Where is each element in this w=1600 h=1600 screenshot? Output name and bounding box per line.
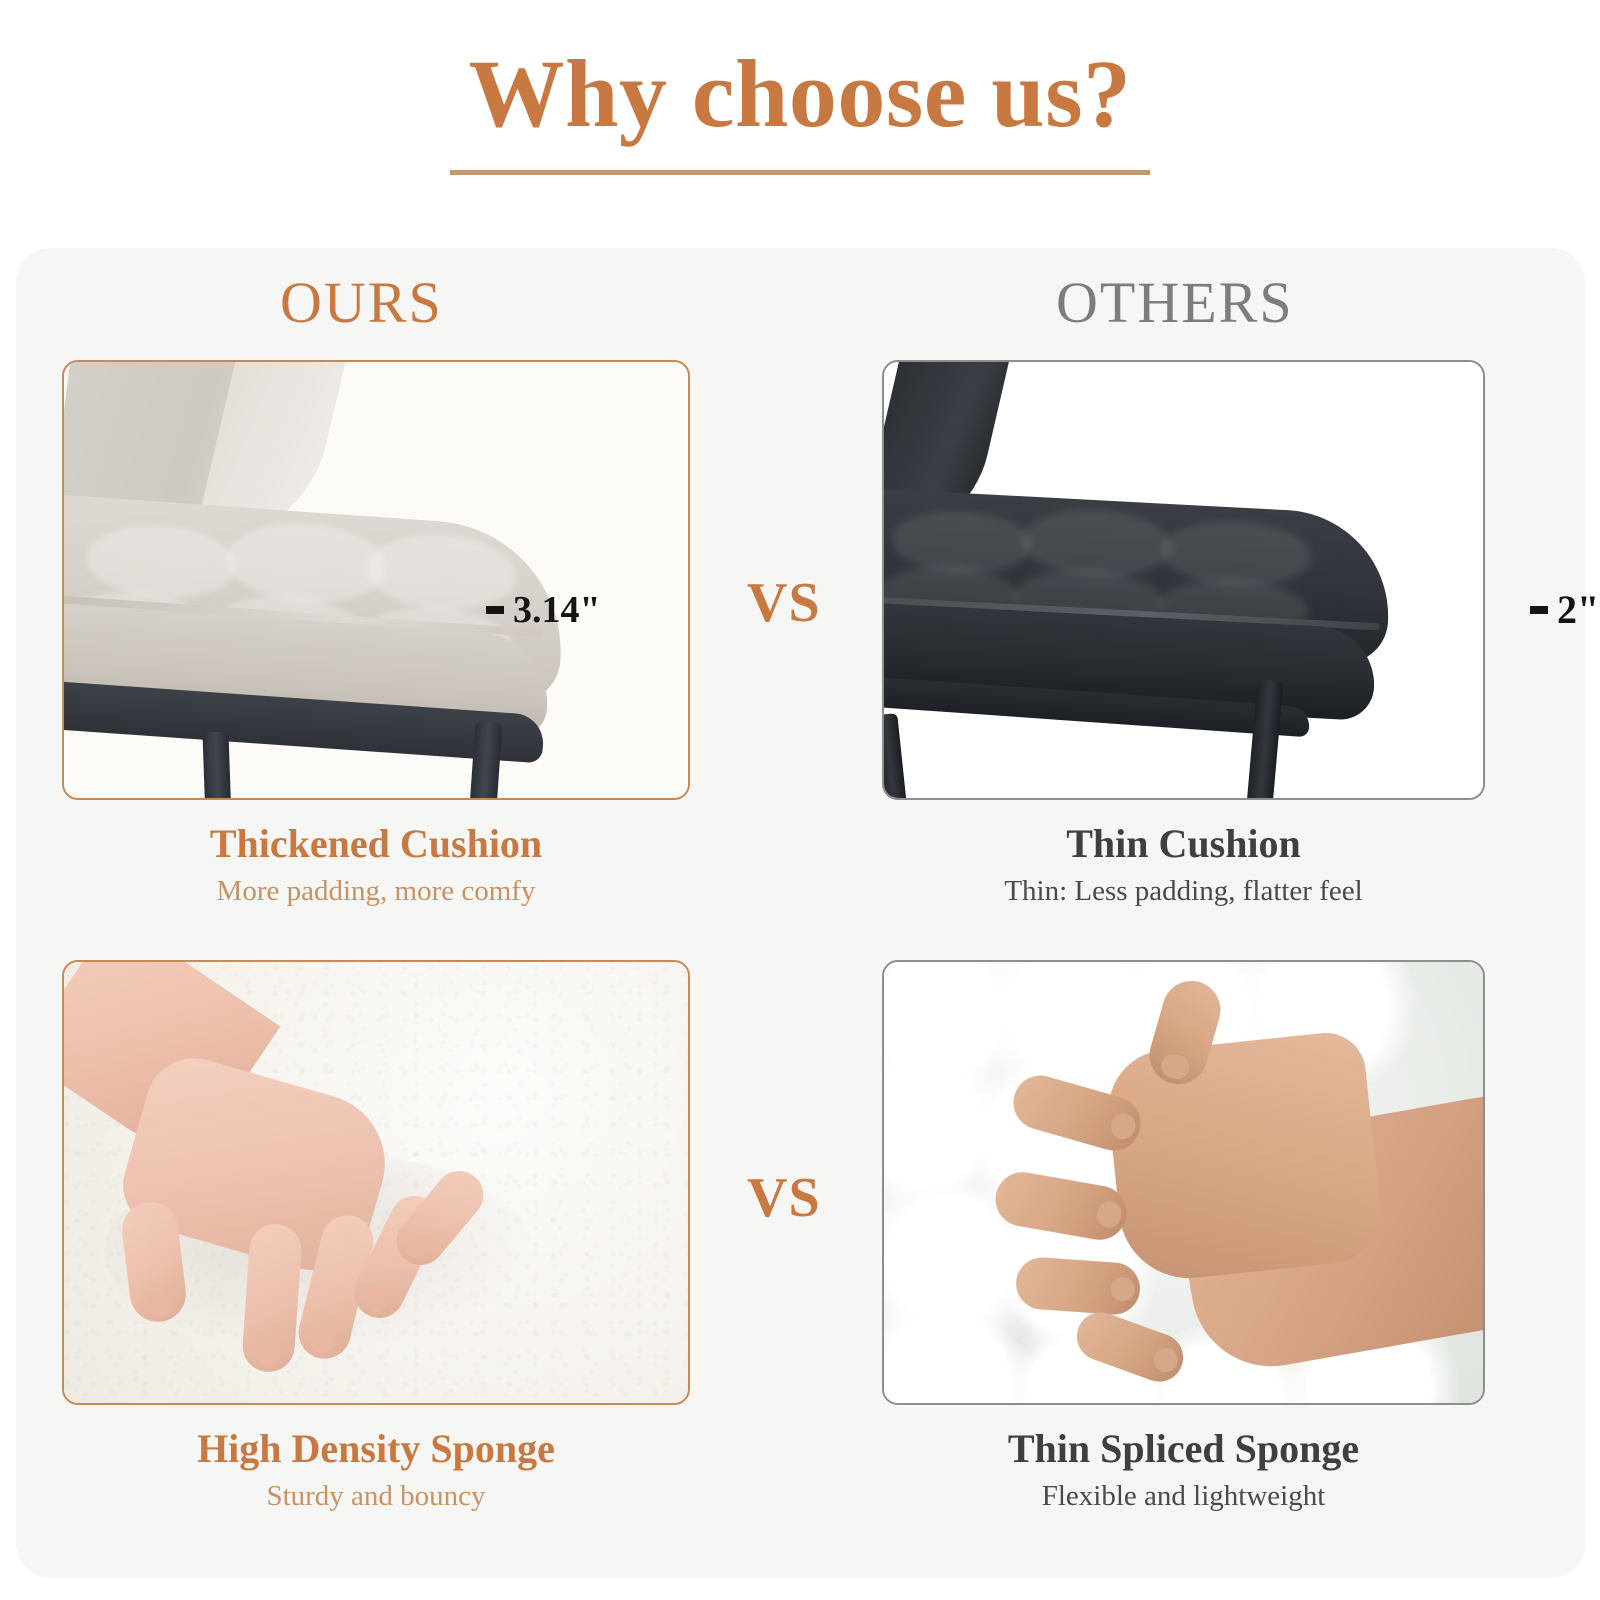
chair-leg-front [882,713,907,800]
caption-title: Thin Cushion [882,822,1485,866]
page-title: Why choose us? [468,42,1131,146]
title-underline-divider [450,170,1150,175]
column-heading-others: OTHERS [1056,274,1294,332]
caption-subtitle: Thin: Less padding, flatter feel [882,866,1485,909]
caption-others-cushion: Thin Cushion Thin: Less padding, flatter… [882,800,1485,909]
column-heading-ours: OURS [280,274,443,332]
dimension-cap-bottom [1530,610,1548,614]
dimension-bar-icon [1530,606,1548,614]
caption-title: Thin Spliced Sponge [882,1427,1485,1471]
comparison-cell-others-cushion: Thin Cushion Thin: Less padding, flatter… [882,360,1485,909]
caption-subtitle: More padding, more comfy [62,866,690,909]
column-headings: OURS OTHERS [16,274,1585,344]
comparison-row-sponge: High Density Sponge Sturdy and bouncy [16,960,1585,1540]
comparison-cell-ours-sponge: High Density Sponge Sturdy and bouncy [62,960,690,1514]
palm [1103,1029,1386,1285]
index-finger [241,1222,303,1373]
dimension-label: 3.14" [504,591,601,629]
little-finger [1014,1256,1141,1317]
black-chair-illustration [884,362,1483,798]
photo-others-thin-spliced-sponge [882,960,1485,1405]
caption-title: High Density Sponge [62,1427,690,1471]
comparison-row-cushion: Thickened Cushion More padding, more com… [16,360,1585,920]
photo-others-thin-cushion [882,360,1485,800]
fiber-fill-illustration [884,962,1483,1403]
dimension-marker-others-cushion: 2" [1530,570,1599,650]
dimension-bar-icon [486,606,504,614]
chair-leg-back [469,721,503,800]
caption-ours-sponge: High Density Sponge Sturdy and bouncy [62,1405,690,1514]
dimension-marker-ours-cushion: 3.14" [486,556,601,664]
comparison-cell-others-sponge: Thin Spliced Sponge Flexible and lightwe… [882,960,1485,1514]
dimension-label: 2" [1548,590,1599,630]
vs-badge-row-2: VS [747,1170,821,1226]
photo-ours-high-density-sponge [62,960,690,1405]
caption-title: Thickened Cushion [62,822,690,866]
page-header: Why choose us? [0,0,1600,248]
caption-subtitle: Sturdy and bouncy [62,1471,690,1514]
vs-badge-row-1: VS [747,575,821,631]
white-foam-illustration [64,962,688,1403]
caption-subtitle: Flexible and lightweight [882,1471,1485,1514]
caption-others-sponge: Thin Spliced Sponge Flexible and lightwe… [882,1405,1485,1514]
chair-leg-front [202,732,231,800]
caption-ours-cushion: Thickened Cushion More padding, more com… [62,800,690,909]
dimension-cap-bottom [486,610,504,614]
